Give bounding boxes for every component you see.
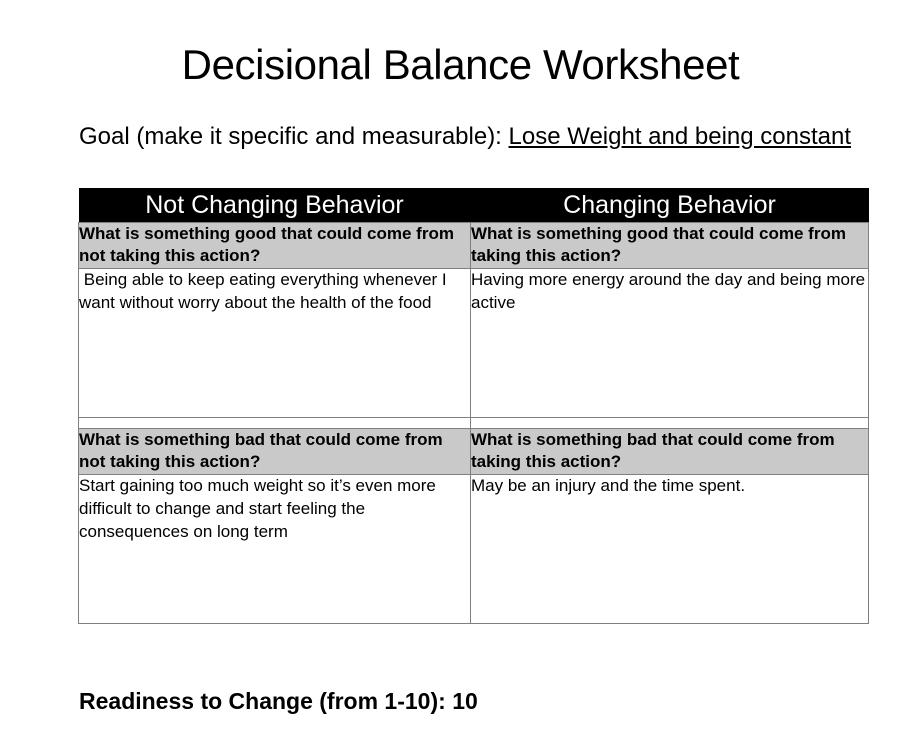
answer-good-taking-action-text: Having more energy around the day and be… <box>471 269 868 315</box>
column-header-not-changing-behavior: Not Changing Behavior <box>79 188 471 223</box>
goal-value[interactable]: Lose Weight and being constant <box>509 123 851 150</box>
answer-good-not-taking-action-text: Being able to keep eating everything whe… <box>79 269 470 315</box>
table-row: What is something bad that could come fr… <box>79 428 869 474</box>
goal-line: Goal (make it specific and measurable): … <box>79 122 879 152</box>
answer-bad-not-taking-action[interactable]: Start gaining too much weight so it’s ev… <box>79 474 471 623</box>
table-row: Start gaining too much weight so it’s ev… <box>79 474 869 623</box>
table-header-row: Not Changing Behavior Changing Behavior <box>79 188 869 223</box>
table-row: Being able to keep eating everything whe… <box>79 268 869 417</box>
readiness-to-change: Readiness to Change (from 1-10): 10 <box>79 688 478 715</box>
spacer-cell-right <box>471 417 869 428</box>
table-row-spacer <box>79 417 869 428</box>
column-header-changing-behavior: Changing Behavior <box>471 188 869 223</box>
prompt-good-not-taking-action: What is something good that could come f… <box>79 223 471 269</box>
readiness-value[interactable]: 10 <box>452 688 478 714</box>
prompt-good-taking-action: What is something good that could come f… <box>471 223 869 269</box>
answer-good-taking-action[interactable]: Having more energy around the day and be… <box>471 268 869 417</box>
decisional-balance-table: Not Changing Behavior Changing Behavior … <box>78 188 869 624</box>
answer-bad-taking-action-text: May be an injury and the time spent. <box>471 475 868 498</box>
answer-bad-taking-action[interactable]: May be an injury and the time spent. <box>471 474 869 623</box>
page-title: Decisional Balance Worksheet <box>0 42 921 88</box>
table-row: What is something good that could come f… <box>79 223 869 269</box>
worksheet-page: Decisional Balance Worksheet Goal (make … <box>0 0 921 731</box>
answer-bad-not-taking-action-text: Start gaining too much weight so it’s ev… <box>79 475 470 544</box>
answer-good-not-taking-action[interactable]: Being able to keep eating everything whe… <box>79 268 471 417</box>
readiness-label: Readiness to Change (from 1-10): <box>79 688 452 714</box>
prompt-bad-not-taking-action: What is something bad that could come fr… <box>79 428 471 474</box>
goal-label: Goal (make it specific and measurable): <box>79 123 509 150</box>
prompt-bad-taking-action: What is something bad that could come fr… <box>471 428 869 474</box>
spacer-cell-left <box>79 417 471 428</box>
